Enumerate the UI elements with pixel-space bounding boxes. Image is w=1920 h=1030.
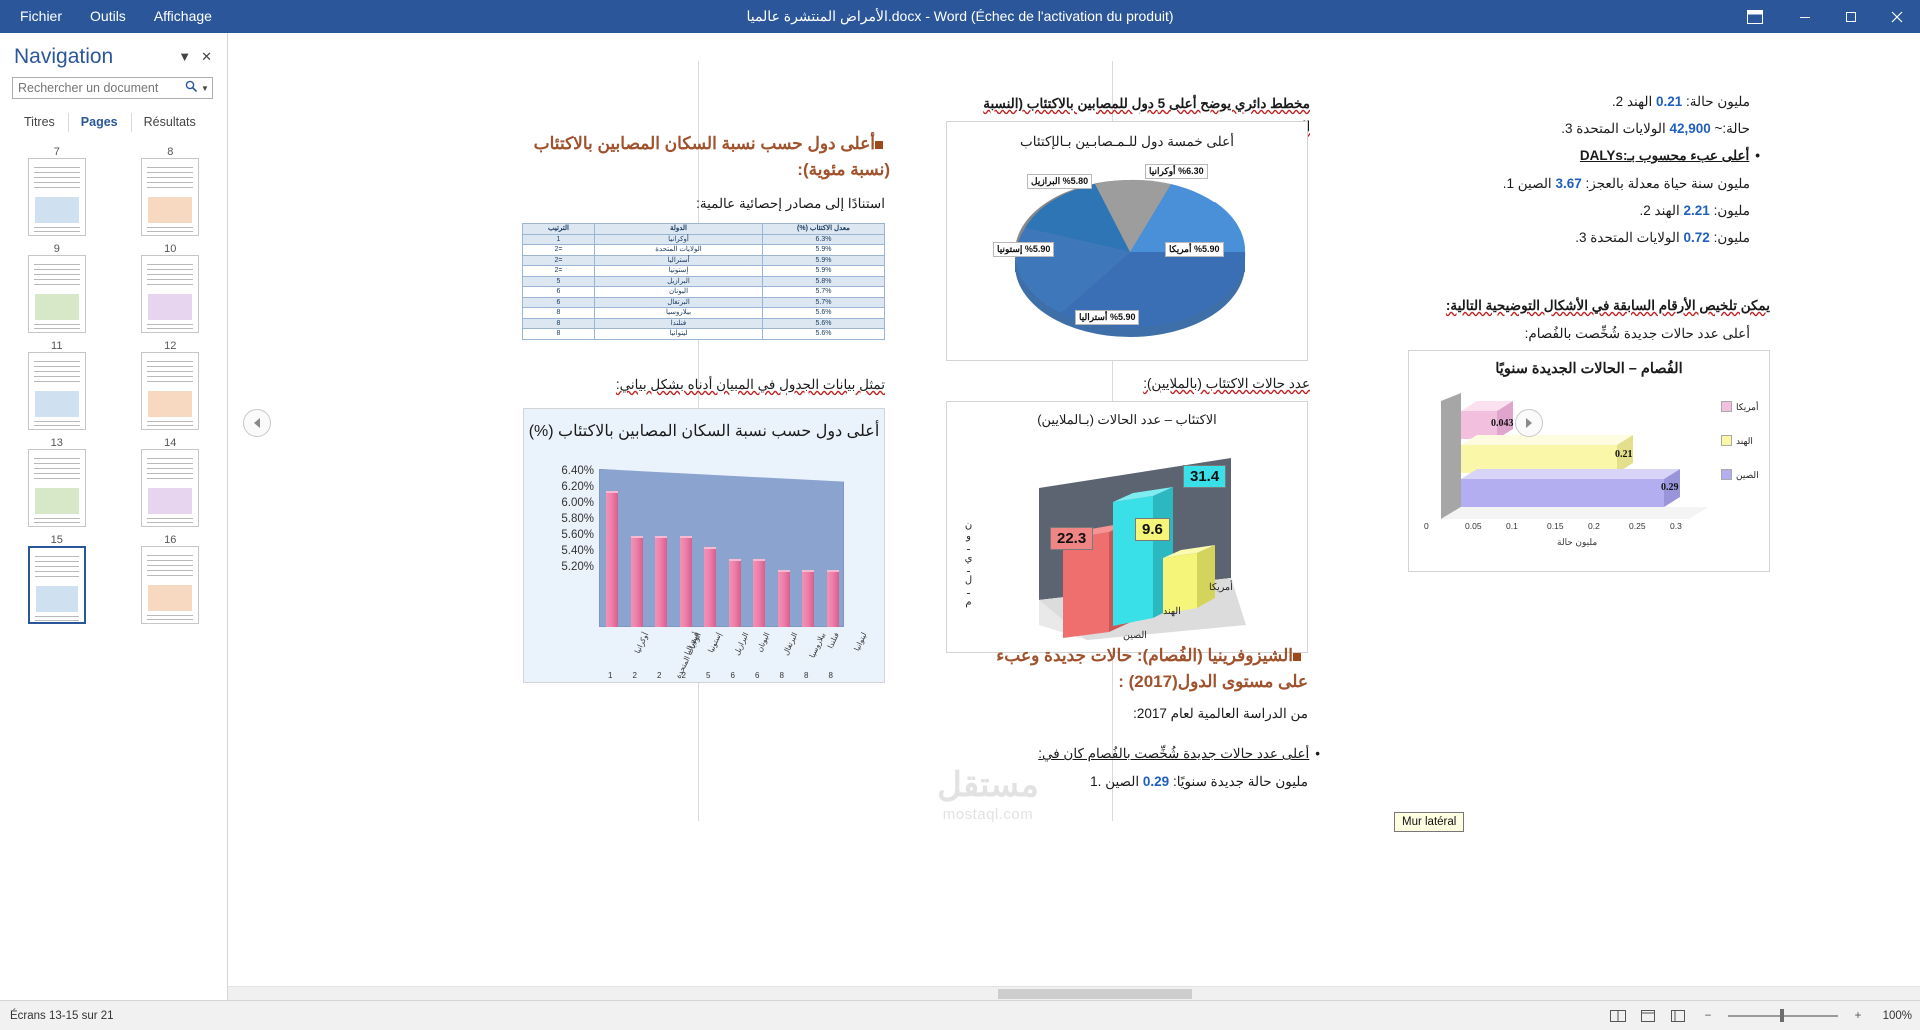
window-controls xyxy=(1728,0,1920,33)
zoom-level-label[interactable]: 100% xyxy=(1878,1010,1912,1022)
thumbnail-number: 14 xyxy=(164,437,176,449)
bar-chart-y-tick: 5.60% xyxy=(538,529,594,541)
left-column-caption: تمثل بيانات الجدول في المبيان أدناه بشكل… xyxy=(545,374,885,397)
hbar-legend-swatch-china xyxy=(1721,469,1732,480)
table-cell: 8 xyxy=(523,318,595,329)
search-input[interactable] xyxy=(13,78,183,98)
page-thumbnail-grid[interactable]: 78910111213141516 xyxy=(0,121,227,974)
thumbnail-preview xyxy=(141,352,199,430)
dalys-item-china: مليون سنة حياة معدلة بالعجز: 3.67 الصين … xyxy=(1410,173,1750,196)
table-cell: 8 xyxy=(523,308,595,319)
table-cell: 5.7% xyxy=(763,287,885,298)
bar-chart-y-tick: 6.00% xyxy=(538,497,594,509)
menu-affichage[interactable]: Affichage xyxy=(140,0,226,33)
table-cell: 6.3% xyxy=(763,234,885,245)
thumbnail-preview xyxy=(28,352,86,430)
table-cell: 5.9% xyxy=(763,245,885,256)
page-count-status[interactable]: Écrans 13-15 sur 21 xyxy=(0,1010,114,1022)
restore-icon[interactable] xyxy=(1828,0,1874,33)
bar-chart-bar xyxy=(655,536,667,627)
bar-chart-category: اليونان xyxy=(754,631,771,653)
hbar-value-america: 0.043 xyxy=(1491,418,1514,429)
bar-chart-title: أعلى دول حسب نسبة السكان المصابين بالاكت… xyxy=(524,421,884,441)
hbar-x-tick: 0.2 xyxy=(1588,521,1600,531)
bar-chart-bar xyxy=(827,570,839,627)
hbar-legend-china: الصين xyxy=(1736,470,1759,481)
table-cell: 5.9% xyxy=(763,266,885,277)
hbar-x-tick: 0.15 xyxy=(1547,521,1564,531)
table-row: 5.9%الولايات المتحدة=2 xyxy=(523,245,885,256)
bar-chart-bar xyxy=(606,491,618,627)
col3d-chart-title: الاكتئاب – عدد الحالات (بـالملايين) xyxy=(947,412,1307,428)
chart-schizophrenia-hbar[interactable]: الفُصام – الحالات الجديدة سنويًا 0.043 0… xyxy=(1408,350,1770,572)
page-thumbnail-16[interactable]: 16 xyxy=(125,531,215,624)
zoom-out-button[interactable]: − xyxy=(1698,1008,1718,1024)
thumbnail-number: 11 xyxy=(51,340,62,352)
thumbnail-preview xyxy=(28,449,86,527)
hbar-x-tick: 0.25 xyxy=(1629,521,1646,531)
thumbnail-number: 7 xyxy=(54,146,60,158)
bar-chart-rank: 2 xyxy=(657,671,661,680)
zoom-slider[interactable] xyxy=(1728,1008,1838,1024)
chart-depression-percent-bar[interactable]: أعلى دول حسب نسبة السكان المصابين بالاكت… xyxy=(523,408,885,683)
col3d-value-america: 9.6 xyxy=(1135,518,1170,541)
chevron-down-icon[interactable]: ▼ xyxy=(201,84,212,93)
menu-fichier[interactable]: Fichier xyxy=(6,0,76,33)
table-row: 5.9%إستونيا=2 xyxy=(523,266,885,277)
ribbon-display-options-icon[interactable] xyxy=(1728,0,1782,33)
table-cell: البرازيل xyxy=(595,276,763,287)
page-thumbnail-15[interactable]: 15 xyxy=(12,531,102,624)
bar-chart-y-tick: 6.40% xyxy=(538,465,594,477)
col3d-value-china: 22.3 xyxy=(1050,527,1093,550)
hbar-legend-india: الهند xyxy=(1736,436,1753,447)
page-thumbnail-13[interactable]: 13 xyxy=(12,434,102,527)
page-thumbnail-14[interactable]: 14 xyxy=(125,434,215,527)
table-cell: =2 xyxy=(523,245,595,256)
navigation-pane: Navigation ▼ ✕ ▼ Titres Pages Résultats … xyxy=(0,33,228,1000)
print-layout-icon[interactable] xyxy=(1638,1008,1658,1024)
page-thumbnail-10[interactable]: 10 xyxy=(125,240,215,333)
bar-chart-y-tick: 5.20% xyxy=(538,561,594,573)
hbar-graphic xyxy=(1419,387,1739,537)
table-row: 5.8%البرازيل5 xyxy=(523,276,885,287)
col3d-value-india: 31.4 xyxy=(1183,465,1226,488)
status-bar-right: − + 100% xyxy=(1608,1008,1912,1024)
bar-chart-rank: 8 xyxy=(829,671,833,680)
thumbnail-row: 1516 xyxy=(0,531,227,624)
zoom-in-button[interactable]: + xyxy=(1848,1008,1868,1024)
th-country: الدولة xyxy=(595,224,763,235)
table-cell: ليتوانيا xyxy=(595,329,763,340)
table-row: 5.7%البرتغال6 xyxy=(523,297,885,308)
navigation-title: Navigation xyxy=(14,45,173,69)
bar-chart-bar xyxy=(802,570,814,627)
thumbnail-preview xyxy=(28,255,86,333)
bar-chart-rank: 8 xyxy=(804,671,808,680)
table-header-row: معدل الاكتئاب (%) الدولة الترتيب xyxy=(523,224,885,235)
status-bar: Écrans 13-15 sur 21 − + 100% xyxy=(0,1000,1920,1030)
bar-chart-category: البرازيل xyxy=(732,631,750,657)
navigation-header: Navigation ▼ ✕ xyxy=(0,33,227,69)
table-cell: اليونان xyxy=(595,287,763,298)
th-rank: الترتيب xyxy=(523,224,595,235)
tooltip: Mur latéral xyxy=(1394,812,1464,832)
hbar-chart-title: الفُصام – الحالات الجديدة سنويًا xyxy=(1409,361,1769,377)
schizophrenia-bullet: •أعلى عدد حالات جديدة شُخِّصت بالفُصام ك… xyxy=(970,743,1320,766)
thumbnail-number: 15 xyxy=(51,534,63,546)
table-cell: فنلندا xyxy=(595,318,763,329)
table-cell: 6 xyxy=(523,297,595,308)
bar-chart-bar xyxy=(729,559,741,627)
thumbnail-row: 1112 xyxy=(0,337,227,430)
chart-top5-pie[interactable]: أعلى خمسة دول للـمـصابـين بـالإكتئاب %6.… xyxy=(946,121,1308,361)
thumbnail-preview xyxy=(28,546,86,624)
th-rate: معدل الاكتئاب (%) xyxy=(763,224,885,235)
next-page-arrow[interactable] xyxy=(1515,409,1543,437)
col3d-legend-india: الهند xyxy=(1163,606,1181,617)
bar-chart-category: بيلاروسيا xyxy=(807,631,827,659)
hbar-legend-swatch-india xyxy=(1721,435,1732,446)
close-icon[interactable]: ✕ xyxy=(196,45,217,69)
table-row: 5.6%فنلندا8 xyxy=(523,318,885,329)
pie-label-estonia: %5.90 إستونيا xyxy=(993,242,1054,257)
thumbnail-preview xyxy=(141,255,199,333)
table-cell: 5 xyxy=(523,276,595,287)
title-bar: Fichier Outils Affichage الأمراض المنتشر… xyxy=(0,0,1920,33)
hbar-legend-america: أمريكا xyxy=(1736,402,1759,413)
window-title: الأمراض المنتشرة عالميا.docx - Word (Éch… xyxy=(0,8,1920,25)
schizophrenia-heading: الشيزوفرينيا (الفُصام): حالات جديدة وعبء… xyxy=(968,643,1308,694)
bar-chart-category: إستونيا xyxy=(706,631,723,654)
hbar-value-china: 0.29 xyxy=(1661,482,1679,493)
hbar-legend-swatch-america xyxy=(1721,401,1732,412)
pie-label-brazil: %5.80 البرازيل xyxy=(1027,174,1092,189)
col3d-y-axis-label: مـلـيـون xyxy=(963,520,974,608)
left-column-intro: استنادًا إلى مصادر إحصائية عالمية: xyxy=(545,193,885,216)
hbar-x-tick: 0.05 xyxy=(1465,521,1482,531)
bar-chart-category: فنلندا xyxy=(826,631,841,650)
web-layout-icon[interactable] xyxy=(1668,1008,1688,1024)
bar-chart-bar xyxy=(631,536,643,627)
read-mode-icon[interactable] xyxy=(1608,1008,1628,1024)
bar-chart-y-tick: 5.80% xyxy=(538,513,594,525)
table-cell: 5.8% xyxy=(763,276,885,287)
bar-chart-bar xyxy=(778,570,790,627)
table-cell: أوكرانيا xyxy=(595,234,763,245)
page-thumbnail-8[interactable]: 8 xyxy=(125,143,215,236)
table-row: 5.7%اليونان6 xyxy=(523,287,885,298)
table-cell: 5.6% xyxy=(763,308,885,319)
table-row: 6.3%أوكرانيا1 xyxy=(523,234,885,245)
bar-chart-rank: 6 xyxy=(731,671,735,680)
pie-label-australia: %5.90 أستراليا xyxy=(1075,310,1139,325)
schizophrenia-item-1: مليون حالة جديدة سنويًا: 0.29 الصين .1 xyxy=(968,771,1308,794)
schizophrenia-intro: من الدراسة العالمية لعام 2017: xyxy=(968,703,1308,726)
statistics-table: معدل الاكتئاب (%) الدولة الترتيب 6.3%أوك… xyxy=(522,223,885,340)
zoom-slider-thumb[interactable] xyxy=(1780,1009,1784,1022)
hbar-value-india: 0.21 xyxy=(1615,449,1633,460)
document-canvas[interactable]: أعلى دول حسب نسبة السكان المصابين بالاكت… xyxy=(228,33,1920,1000)
table-cell: 5.6% xyxy=(763,329,885,340)
table-cell: 6 xyxy=(523,287,595,298)
square-bullet-icon xyxy=(875,141,883,149)
document-page: أعلى دول حسب نسبة السكان المصابين بالاكت… xyxy=(228,33,1920,1000)
thumbnail-number: 13 xyxy=(51,437,63,449)
col3d-legend-america: أمريكا xyxy=(1209,582,1233,593)
table-cell: 5.6% xyxy=(763,318,885,329)
watermark-latin: mostaql.com xyxy=(888,806,1088,823)
thumbnail-number: 12 xyxy=(164,340,176,352)
bar-chart-rank: 5 xyxy=(706,671,710,680)
bar-chart-rank: 2 xyxy=(633,671,637,680)
bar-chart-rank: 8 xyxy=(780,671,784,680)
thumbnail-preview xyxy=(141,158,199,236)
bar-chart-category: ليتوانيا xyxy=(852,631,868,652)
dalys-item-usa: مليون: 0.72 الولايات المتحدة 3. xyxy=(1410,227,1750,250)
table-cell: 1 xyxy=(523,234,595,245)
pie-label-ukraine: %6.30 أوكرانيا xyxy=(1145,164,1208,179)
thumbnail-number: 10 xyxy=(164,243,176,255)
dalys-item-india: مليون: 2.21 الهند 2. xyxy=(1410,200,1750,223)
bar-chart-bar xyxy=(680,536,692,627)
square-bullet-icon xyxy=(1293,653,1301,661)
chevron-down-icon[interactable]: ▼ xyxy=(173,45,196,68)
table-cell: الولايات المتحدة xyxy=(595,245,763,256)
thumbnail-number: 9 xyxy=(54,243,60,255)
thumbnail-preview xyxy=(28,158,86,236)
thumbnail-number: 8 xyxy=(167,146,173,158)
thumbnail-row: 78 xyxy=(0,143,227,236)
right-item-india: مليون حالة: 0.21 الهند 2. xyxy=(1410,91,1750,114)
page-thumbnail-7[interactable]: 7 xyxy=(12,143,102,236)
bar-chart-rank: 6 xyxy=(755,671,759,680)
dalys-bullet: •أعلى عبء محسوب بـ:DALYs xyxy=(1410,145,1760,168)
bar-chart-rank: 2 xyxy=(682,671,686,680)
table-cell: 8 xyxy=(523,329,595,340)
table-row: 5.6%ليتوانيا8 xyxy=(523,329,885,340)
horizontal-scrollbar-thumb[interactable] xyxy=(998,989,1192,999)
chart-depression-cases-3d[interactable]: الاكتئاب – عدد الحالات (بـالملايين) xyxy=(946,401,1308,653)
menu-outils[interactable]: Outils xyxy=(76,0,140,33)
bar-chart-category: البرتغال xyxy=(781,631,799,657)
search-box[interactable]: ▼ xyxy=(12,77,213,99)
hbar-x-tick: 0.3 xyxy=(1670,521,1682,531)
left-column-heading: أعلى دول حسب نسبة السكان المصابين بالاكت… xyxy=(530,131,890,182)
hbar-x-axis-label: مليون حالة xyxy=(1557,537,1597,548)
horizontal-scrollbar[interactable] xyxy=(228,986,1920,1000)
bar3d-chart-caption: عدد حالات الاكتئاب (بالملايين): xyxy=(950,373,1310,396)
thumbnail-row: 910 xyxy=(0,240,227,333)
table-row: 5.6%بيلاروسيا8 xyxy=(523,308,885,319)
table-cell: 5.9% xyxy=(763,255,885,266)
table-cell: بيلاروسيا xyxy=(595,308,763,319)
new-cases-line: أعلى عدد حالات جديدة شُخِّصت بالفُصام: xyxy=(1410,323,1750,346)
thumbnail-preview xyxy=(141,449,199,527)
minimize-icon[interactable] xyxy=(1782,0,1828,33)
pie-chart-title: أعلى خمسة دول للـمـصابـين بـالإكتئاب xyxy=(947,134,1307,150)
table-cell: أستراليا xyxy=(595,255,763,266)
hbar-x-tick: 0 xyxy=(1424,521,1429,531)
thumbnail-number: 16 xyxy=(164,534,176,546)
table-cell: إستونيا xyxy=(595,266,763,277)
menu-bar: Fichier Outils Affichage xyxy=(6,0,226,33)
bar-chart-y-tick: 5.40% xyxy=(538,545,594,557)
hbar-x-tick: 0.1 xyxy=(1506,521,1518,531)
bar-chart-y-tick: 6.20% xyxy=(538,481,594,493)
table-cell: =2 xyxy=(523,255,595,266)
table-cell: 5.7% xyxy=(763,297,885,308)
bar-chart-rank: 1 xyxy=(608,671,612,680)
table-cell: =2 xyxy=(523,266,595,277)
table-cell: البرتغال xyxy=(595,297,763,308)
close-icon[interactable] xyxy=(1874,0,1920,33)
bar-chart-category: أوكرانيا xyxy=(633,631,651,655)
page-thumbnail-9[interactable]: 9 xyxy=(12,240,102,333)
bar-chart-bar xyxy=(753,559,765,627)
search-icon[interactable] xyxy=(183,80,201,96)
right-item-usa: حالة:~ 42,900 الولايات المتحدة 3. xyxy=(1410,118,1750,141)
col3d-legend-china: الصين xyxy=(1123,630,1147,641)
pie-label-america: %5.90 أمريكا xyxy=(1165,242,1224,257)
page-thumbnail-12[interactable]: 12 xyxy=(125,337,215,430)
thumbnail-preview xyxy=(141,546,199,624)
bar-chart-bar xyxy=(704,547,716,627)
page-thumbnail-11[interactable]: 11 xyxy=(12,337,102,430)
summary-line: يمكن تلخيص الأرقام السابقة في الأشكال ال… xyxy=(1410,295,1770,318)
previous-page-arrow[interactable] xyxy=(243,409,271,437)
thumbnail-row: 1314 xyxy=(0,434,227,527)
table-row: 5.9%أستراليا=2 xyxy=(523,255,885,266)
